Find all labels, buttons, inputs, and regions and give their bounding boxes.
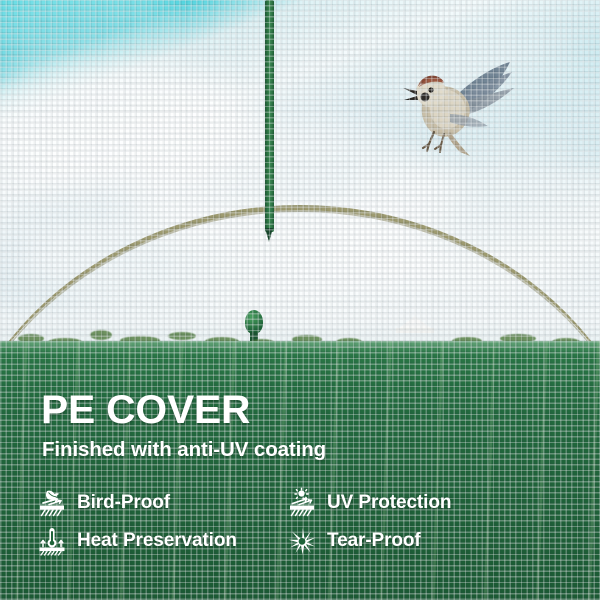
feature-label: UV Protection <box>327 492 451 514</box>
sun-net-icon <box>286 487 318 519</box>
feature-label: Bird-Proof <box>77 492 170 514</box>
feature-item-tear-proof: Tear-Proof <box>286 522 536 560</box>
greenhouse-support-pole <box>265 0 274 232</box>
sparrow-in-flight <box>398 52 520 156</box>
feature-item-bird-proof: Bird-Proof <box>36 484 286 522</box>
product-marketing-image: PE COVER Finished with anti-UV coating <box>0 0 600 600</box>
subtitle: Finished with anti-UV coating <box>42 438 326 462</box>
feature-label: Heat Preservation <box>77 530 237 552</box>
feature-label: Tear-Proof <box>327 530 421 552</box>
feature-list: Bird-Proof <box>36 484 566 560</box>
feature-item-heat-preservation: Heat Preservation <box>36 522 286 560</box>
burst-icon <box>286 525 318 557</box>
page-title: PE COVER <box>41 390 250 430</box>
marketing-copy: PE COVER Finished with anti-UV coating <box>0 376 600 600</box>
thermometer-icon <box>36 525 68 557</box>
feature-item-uv-protection: UV Protection <box>286 484 536 522</box>
bird-net-icon <box>36 487 68 519</box>
hedge-top-glow <box>0 341 600 355</box>
pole-tip <box>265 228 273 242</box>
